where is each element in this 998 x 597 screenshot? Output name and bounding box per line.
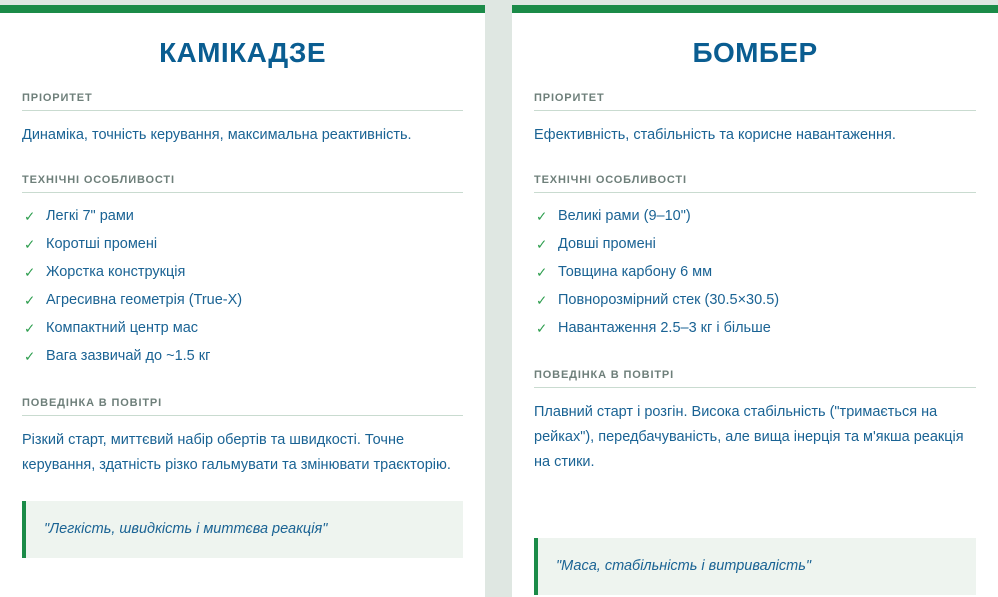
feature-text: Агресивна геометрія (True-X): [46, 291, 463, 310]
section-label-behavior: ПОВЕДІНКА В ПОВІТРІ: [22, 397, 463, 416]
list-item: ✓ Жорстка конструкція: [22, 258, 463, 286]
check-icon: ✓: [22, 347, 46, 366]
check-icon: ✓: [534, 235, 558, 254]
feature-text: Навантаження 2.5–3 кг і більше: [558, 319, 976, 338]
comparison-layout: КАМІКАДЗЕ ПРІОРИТЕТ Динаміка, точність к…: [0, 0, 998, 597]
priority-text: Ефективність, стабільність та корисне на…: [534, 111, 976, 148]
comparison-card-bomber: БОМБЕР ПРІОРИТЕТ Ефективність, стабільні…: [512, 5, 998, 597]
feature-text: Вага зазвичай до ~1.5 кг: [46, 347, 463, 366]
feature-text: Жорстка конструкція: [46, 263, 463, 282]
card-accent-bar: [512, 5, 998, 13]
check-icon: ✓: [22, 291, 46, 310]
quote-box: "Маса, стабільність і витривалість": [534, 538, 976, 595]
check-icon: ✓: [22, 319, 46, 338]
list-item: ✓ Довші промені: [534, 230, 976, 258]
check-icon: ✓: [534, 291, 558, 310]
section-priority: ПРІОРИТЕТ Ефективність, стабільність та …: [534, 92, 976, 148]
check-icon: ✓: [22, 235, 46, 254]
list-item: ✓ Навантаження 2.5–3 кг і більше: [534, 314, 976, 342]
section-priority: ПРІОРИТЕТ Динаміка, точність керування, …: [22, 92, 463, 148]
list-item: ✓ Великі рами (9–10"): [534, 202, 976, 230]
list-item: ✓ Легкі 7" рами: [22, 202, 463, 230]
list-item: ✓ Коротші промені: [22, 230, 463, 258]
section-label-behavior: ПОВЕДІНКА В ПОВІТРІ: [534, 369, 976, 388]
behavior-text: Різкий старт, миттєвий набір обертів та …: [22, 416, 463, 478]
card-title: КАМІКАДЗЕ: [22, 5, 463, 70]
quote-box: "Легкість, швидкість і миттєва реакція": [22, 501, 463, 558]
quote-text: "Легкість, швидкість і миттєва реакція": [44, 519, 443, 539]
check-icon: ✓: [22, 207, 46, 226]
quote-text: "Маса, стабільність і витривалість": [556, 556, 956, 576]
feature-text: Повнорозмірний стек (30.5×30.5): [558, 291, 976, 310]
check-icon: ✓: [534, 319, 558, 338]
section-behavior: ПОВЕДІНКА В ПОВІТРІ Різкий старт, миттєв…: [22, 397, 463, 478]
list-item: ✓ Компактний центр мас: [22, 314, 463, 342]
feature-list: ✓ Великі рами (9–10") ✓ Довші промені ✓ …: [534, 193, 976, 342]
feature-text: Довші промені: [558, 235, 976, 254]
check-icon: ✓: [22, 263, 46, 282]
feature-text: Коротші промені: [46, 235, 463, 254]
section-label-features: ТЕХНІЧНІ ОСОБЛИВОСТІ: [534, 174, 976, 193]
list-item: ✓ Вага зазвичай до ~1.5 кг: [22, 342, 463, 370]
behavior-text: Плавний старт і розгін. Висока стабільні…: [534, 388, 976, 475]
card-title: БОМБЕР: [534, 5, 976, 70]
list-item: ✓ Агресивна геометрія (True-X): [22, 286, 463, 314]
section-features: ТЕХНІЧНІ ОСОБЛИВОСТІ ✓ Великі рами (9–10…: [534, 174, 976, 342]
feature-text: Товщина карбону 6 мм: [558, 263, 976, 282]
section-features: ТЕХНІЧНІ ОСОБЛИВОСТІ ✓ Легкі 7" рами ✓ К…: [22, 174, 463, 370]
feature-text: Компактний центр мас: [46, 319, 463, 338]
section-label-priority: ПРІОРИТЕТ: [534, 92, 976, 111]
card-gap-divider: [485, 0, 512, 597]
check-icon: ✓: [534, 207, 558, 226]
check-icon: ✓: [534, 263, 558, 282]
feature-list: ✓ Легкі 7" рами ✓ Коротші промені ✓ Жорс…: [22, 193, 463, 370]
card-accent-bar: [0, 5, 485, 13]
section-label-priority: ПРІОРИТЕТ: [22, 92, 463, 111]
feature-text: Великі рами (9–10"): [558, 207, 976, 226]
list-item: ✓ Товщина карбону 6 мм: [534, 258, 976, 286]
comparison-card-kamikaze: КАМІКАДЗЕ ПРІОРИТЕТ Динаміка, точність к…: [0, 5, 485, 597]
section-label-features: ТЕХНІЧНІ ОСОБЛИВОСТІ: [22, 174, 463, 193]
priority-text: Динаміка, точність керування, максимальн…: [22, 111, 463, 148]
section-behavior: ПОВЕДІНКА В ПОВІТРІ Плавний старт і розг…: [534, 369, 976, 475]
list-item: ✓ Повнорозмірний стек (30.5×30.5): [534, 286, 976, 314]
feature-text: Легкі 7" рами: [46, 207, 463, 226]
